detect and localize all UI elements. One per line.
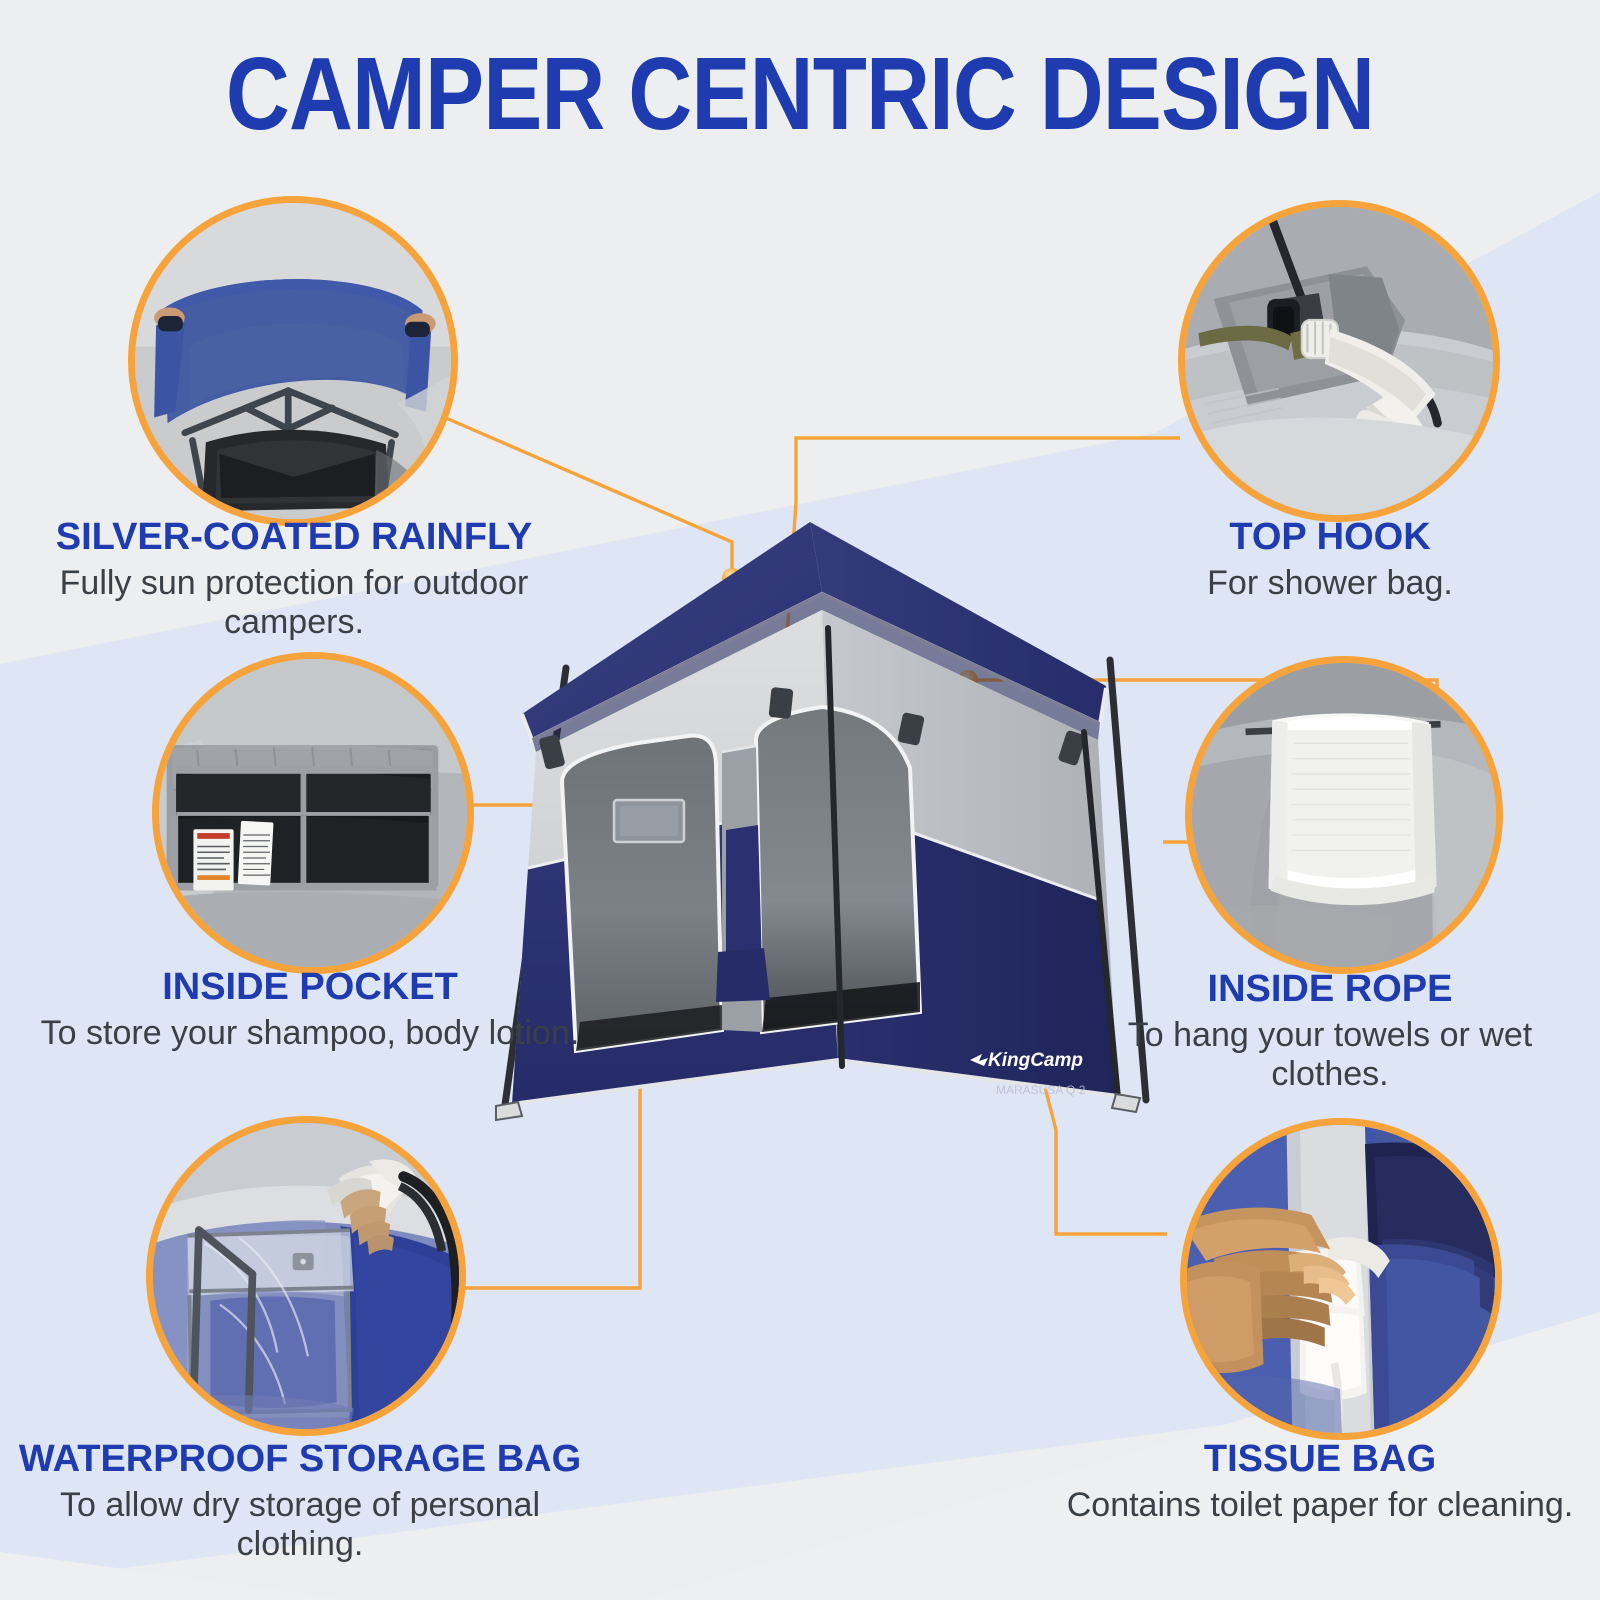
- feature-photo-tissue-bag: [1180, 1118, 1502, 1440]
- feature-title: INSIDE ROPE: [1070, 970, 1590, 1010]
- feature-title: TOP HOOK: [1060, 518, 1600, 558]
- feature-title: TISSUE BAG: [1040, 1440, 1600, 1480]
- feature-description: Contains toilet paper for cleaning.: [1040, 1486, 1600, 1525]
- feature-description: To store your shampoo, body lotion.: [30, 1014, 590, 1053]
- feature-caption-tissue-bag: TISSUE BAG Contains toilet paper for cle…: [1040, 1440, 1600, 1525]
- feature-photo-waterproof-storage-bag: [146, 1116, 466, 1436]
- feature-description: To hang your towels or wet clothes.: [1070, 1016, 1590, 1094]
- feature-caption-silver-coated-rainfly: SILVER-COATED RAINFLY Fully sun protecti…: [20, 518, 568, 642]
- feature-description: To allow dry storage of personal clothin…: [0, 1486, 600, 1564]
- feature-caption-inside-rope: INSIDE ROPE To hang your towels or wet c…: [1070, 970, 1590, 1094]
- feature-caption-inside-pocket: INSIDE POCKET To store your shampoo, bod…: [30, 968, 590, 1053]
- feature-description: For shower bag.: [1060, 564, 1600, 603]
- feature-description: Fully sun protection for outdoor campers…: [20, 564, 568, 642]
- feature-title: INSIDE POCKET: [30, 968, 590, 1008]
- product-tent-illustration: KingCamp MARASUSA Q 2: [470, 500, 1150, 1220]
- feature-photo-silver-coated-rainfly: [128, 196, 458, 526]
- infographic-canvas: CAMPER CENTRIC DESIGN: [0, 0, 1600, 1600]
- page-title: CAMPER CENTRIC DESIGN: [112, 40, 1488, 148]
- feature-title: WATERPROOF STORAGE BAG: [0, 1440, 600, 1480]
- feature-caption-waterproof-storage-bag: WATERPROOF STORAGE BAG To allow dry stor…: [0, 1440, 600, 1564]
- feature-photo-top-hook: [1178, 200, 1500, 522]
- svg-text:KingCamp: KingCamp: [988, 1050, 1083, 1071]
- feature-photo-inside-pocket: [152, 652, 474, 974]
- feature-photo-inside-rope: [1185, 656, 1503, 974]
- feature-caption-top-hook: TOP HOOK For shower bag.: [1060, 518, 1600, 603]
- feature-title: SILVER-COATED RAINFLY: [20, 518, 568, 558]
